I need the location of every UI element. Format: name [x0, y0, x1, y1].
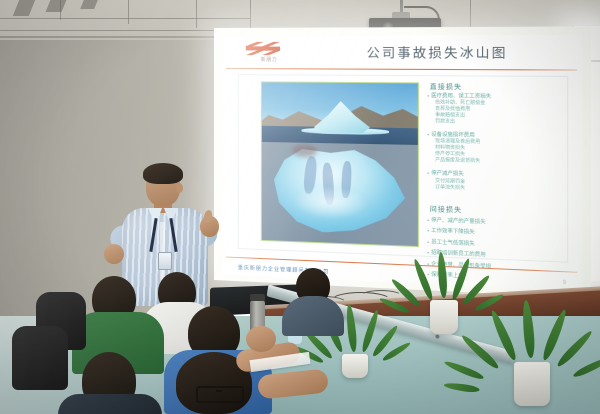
presenter-left-hand: [104, 244, 124, 264]
company-logo: 新朋力: [238, 42, 301, 68]
slide-text-column: 直接损失 医疗费用、误工工资损失 伤残补助、死亡赔偿金 丧葬及抚恤费用 事故赔偿…: [428, 80, 563, 257]
id-badge: [158, 252, 172, 270]
presenter-hair: [143, 163, 183, 184]
panel-heading-direct: 直接损失: [430, 80, 563, 92]
ceiling-tile-grid: [0, 0, 250, 40]
ice-shadow-spot: [292, 145, 317, 157]
slide-body: 直接损失 医疗费用、误工工资损失 伤残补助、死亡赔偿金 丧葬及抚恤费用 事故赔偿…: [238, 74, 568, 263]
attendee-hand: [246, 326, 276, 352]
slide-page-number: 9: [563, 280, 566, 287]
title-divider: [226, 68, 577, 71]
plant-pot: [342, 354, 368, 378]
bullet-sub: 产品报废及退货损失: [435, 157, 562, 166]
chair-back: [12, 326, 68, 390]
plant-pot: [430, 300, 458, 334]
eyeglasses-icon: [196, 386, 244, 403]
presenter-ear: [176, 183, 183, 193]
projection-screen: 新朋力 公司事故损失冰山图: [214, 26, 591, 298]
bullet-block: 医疗费用、误工工资损失 伤残补助、死亡赔偿金 丧葬及抚恤费用 事故赔偿支出 罚款…: [428, 93, 563, 127]
thermos-cap: [250, 294, 265, 301]
iceberg-diagram: [261, 81, 419, 247]
potted-plant-right: [476, 300, 592, 414]
ceiling-grid-line: [470, 0, 471, 30]
iceberg-below-water-image: [262, 142, 418, 246]
iceberg-above-water-image: [262, 82, 418, 146]
glasses-bridge: [216, 390, 222, 392]
bullet-block: 停产减产损失 交付延期罚金 订单流失损失: [428, 171, 563, 194]
plant-pot: [514, 362, 550, 406]
logo-text: 新朋力: [238, 56, 301, 63]
ice-highlight: [292, 185, 368, 221]
slide-title: 公司事故损失冰山图: [313, 42, 566, 62]
logo-mark-icon: [246, 42, 280, 55]
bullet-block: 设备设施损坏费用 现场清理及善后费用 材料物资损失 停产停工损失 产品报废及退货…: [428, 132, 563, 167]
presentation-slide: 新朋力 公司事故损失冰山图: [222, 35, 582, 291]
bullet-sub: 罚款支出: [435, 118, 562, 126]
meeting-room-photo: 新朋力 公司事故损失冰山图: [0, 0, 600, 414]
